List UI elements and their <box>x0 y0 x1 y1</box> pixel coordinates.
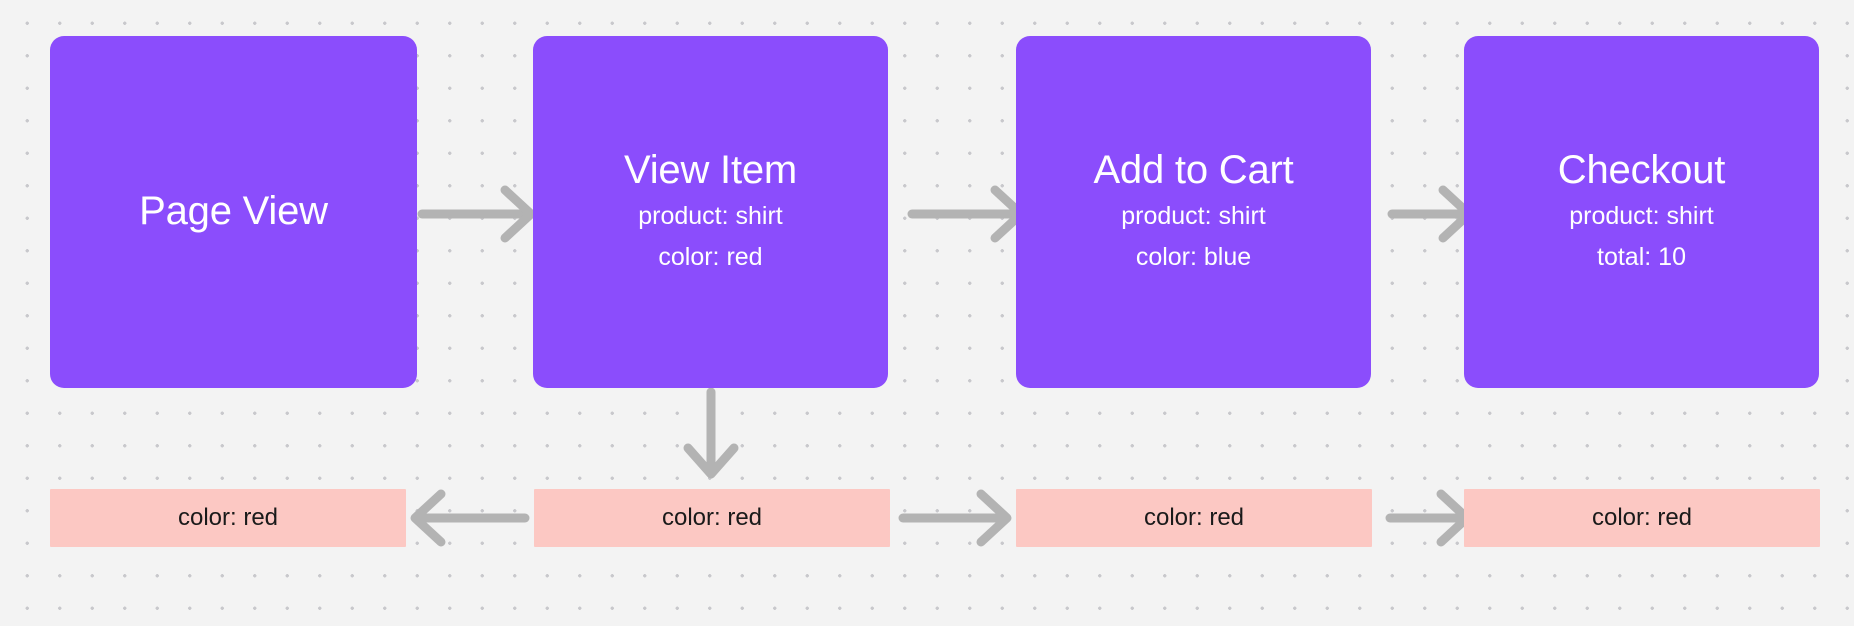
connector-add-to-cart-to-checkout <box>1392 190 1469 238</box>
property-node-1[interactable]: color: red <box>50 489 406 547</box>
event-properties: product: shirt color: red <box>638 196 783 277</box>
event-title: View Item <box>624 147 797 194</box>
event-node-add-to-cart[interactable]: Add to Cart product: shirt color: blue <box>1016 36 1371 388</box>
connector-view-item-to-prop-2 <box>688 392 734 474</box>
connector-prop-2-to-prop-3 <box>903 494 1007 542</box>
event-title: Checkout <box>1558 147 1725 194</box>
event-property: total: 10 <box>1569 237 1714 278</box>
property-node-label: color: red <box>1144 504 1244 532</box>
event-property: product: shirt <box>1121 196 1266 237</box>
event-properties: product: shirt total: 10 <box>1569 196 1714 277</box>
flow-canvas[interactable]: Page View View Item product: shirt color… <box>0 0 1854 626</box>
event-node-page-view[interactable]: Page View <box>50 36 417 388</box>
event-node-checkout[interactable]: Checkout product: shirt total: 10 <box>1464 36 1819 388</box>
property-node-3[interactable]: color: red <box>1016 489 1372 547</box>
event-title: Page View <box>139 188 328 235</box>
property-node-4[interactable]: color: red <box>1464 489 1820 547</box>
connector-page-view-to-view-item <box>422 190 531 238</box>
connector-prop-3-to-prop-4 <box>1390 494 1467 542</box>
event-property: color: blue <box>1121 237 1266 278</box>
event-node-view-item[interactable]: View Item product: shirt color: red <box>533 36 888 388</box>
event-properties: product: shirt color: blue <box>1121 196 1266 277</box>
event-property: product: shirt <box>638 196 783 237</box>
property-node-2[interactable]: color: red <box>534 489 890 547</box>
connector-view-item-to-add-to-cart <box>912 190 1021 238</box>
property-node-label: color: red <box>178 504 278 532</box>
property-node-label: color: red <box>1592 504 1692 532</box>
connector-prop-2-to-prop-1 <box>415 494 525 542</box>
event-property: product: shirt <box>1569 196 1714 237</box>
event-title: Add to Cart <box>1093 147 1293 194</box>
event-property: color: red <box>638 237 783 278</box>
property-node-label: color: red <box>662 504 762 532</box>
